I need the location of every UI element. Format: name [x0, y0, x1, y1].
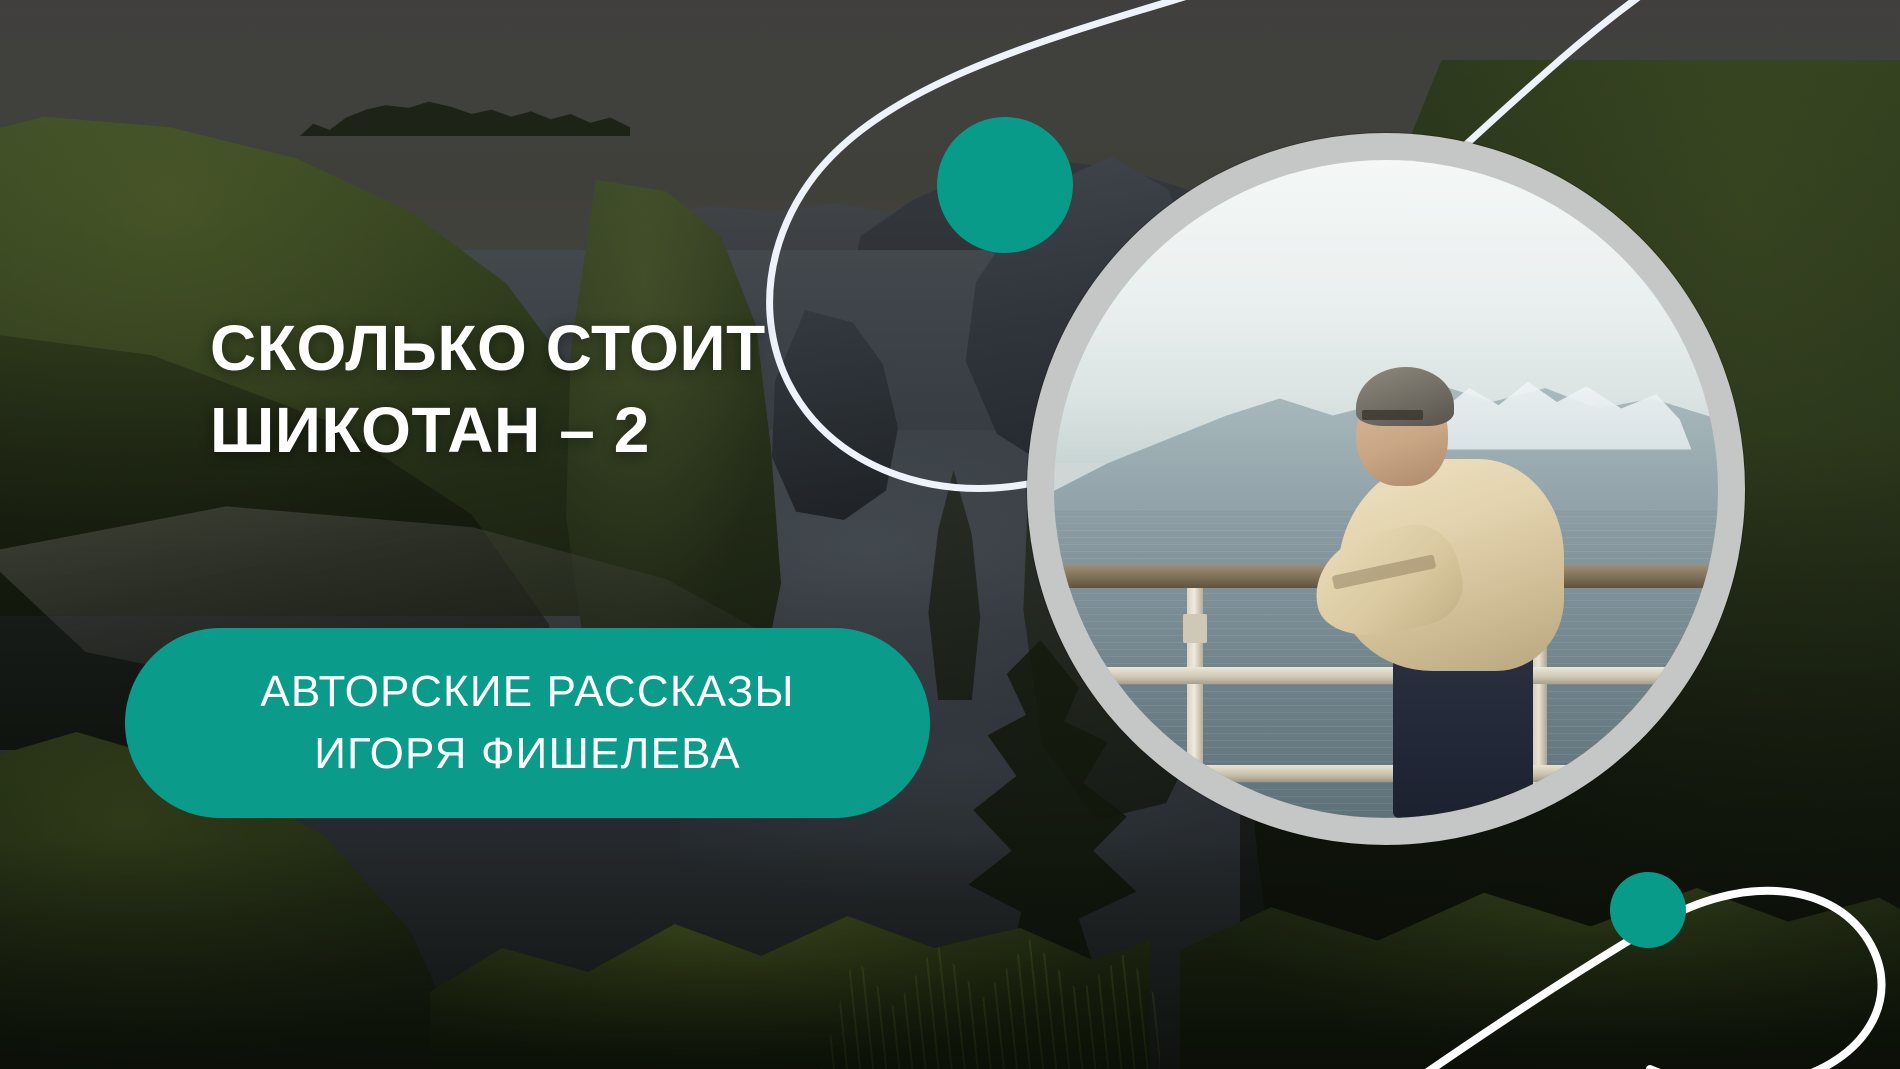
- teal-circle-bottom: [1610, 872, 1686, 948]
- title-line-2: ШИКОТАН – 2: [210, 390, 970, 472]
- page-title: СКОЛЬКО СТОИТ ШИКОТАН – 2: [210, 308, 970, 472]
- portrait-photo: [1054, 160, 1718, 818]
- portrait-person: [1320, 357, 1625, 818]
- series-badge: АВТОРСКИЕ РАССКАЗЫ ИГОРЯ ФИШЕЛЕВА: [125, 628, 930, 818]
- portrait-rail-clamp: [1183, 614, 1207, 643]
- teal-circle-top: [937, 117, 1073, 253]
- badge-line-1: АВТОРСКИЕ РАССКАЗЫ: [260, 661, 794, 723]
- portrait-ring: [1027, 133, 1745, 845]
- title-line-1: СКОЛЬКО СТОИТ: [210, 308, 970, 390]
- portrait-glasses: [1362, 410, 1423, 420]
- badge-line-2: ИГОРЯ ФИШЕЛЕВА: [314, 723, 741, 785]
- slide-canvas: СКОЛЬКО СТОИТ ШИКОТАН – 2 АВТОРСКИЕ РАСС…: [0, 0, 1900, 1069]
